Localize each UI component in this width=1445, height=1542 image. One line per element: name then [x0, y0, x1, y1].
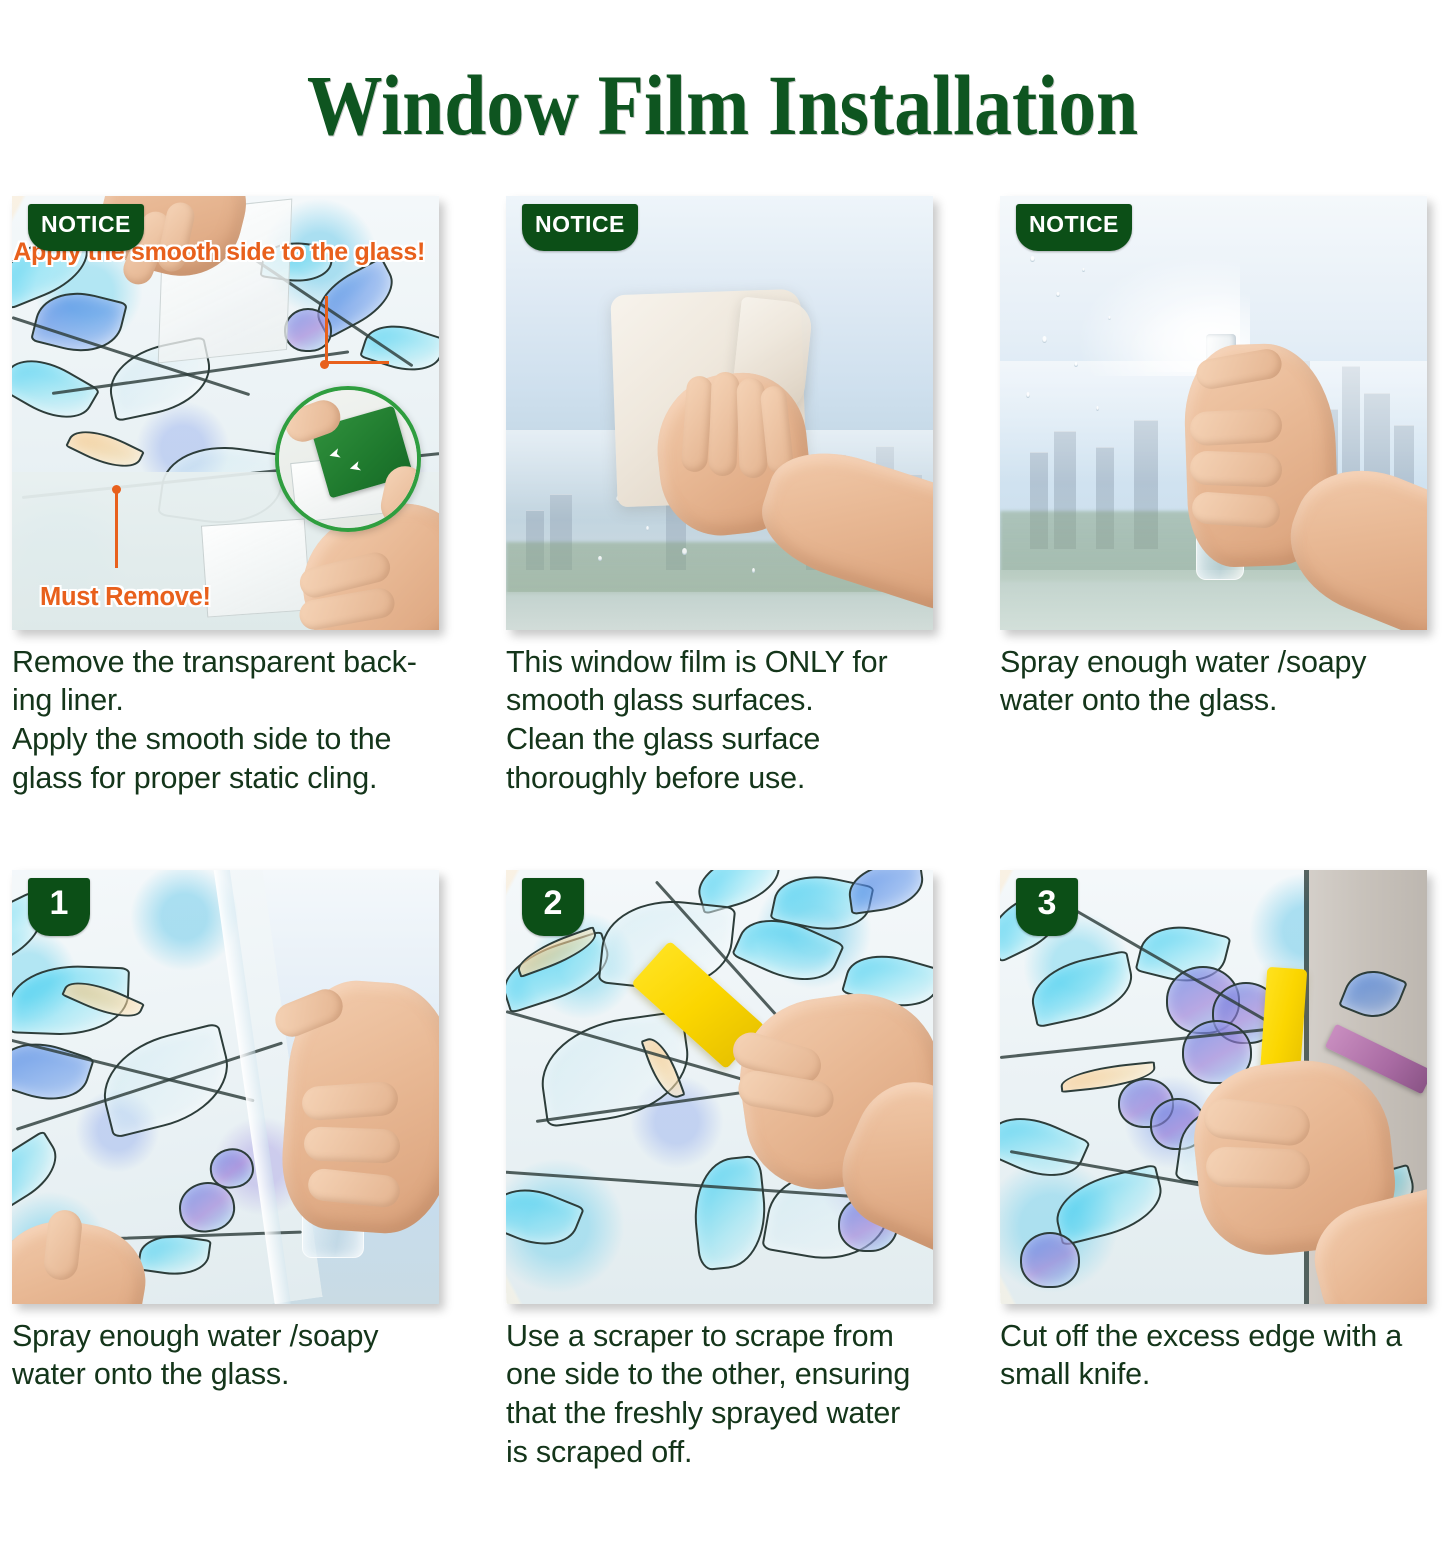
callout-leader-line — [325, 296, 389, 364]
step-cell: NOTICE Spray enough water /soapy water o… — [1000, 196, 1437, 720]
river — [506, 592, 933, 630]
finger — [303, 1126, 400, 1163]
callout-anchor-dot — [112, 485, 121, 494]
notice-badge: NOTICE — [28, 204, 144, 251]
step-caption: Spray enough water /soapy water onto the… — [12, 1317, 442, 1394]
step1-spray-water-film-photo: 1 — [12, 870, 439, 1304]
finger — [301, 1080, 399, 1121]
finger — [1189, 407, 1283, 446]
step2-scrape-with-squeegee-photo: 2 — [506, 870, 933, 1304]
step-cell: ➤ ➤ Apply the smooth side to the glass! … — [12, 196, 449, 798]
finger — [1205, 1146, 1310, 1190]
steps-grid-bottom: 1 Spray enough water /soapy water onto t… — [0, 870, 1445, 1542]
step-cell: 1 Spray enough water /soapy water onto t… — [12, 870, 449, 1394]
step-cell: 2 Use a scraper to scrape from one side … — [506, 870, 943, 1472]
page-title: Window Film Installation — [87, 58, 1359, 148]
finger — [1191, 491, 1281, 529]
notice-badge: NOTICE — [1016, 204, 1132, 251]
arrow-icon: ➤ — [347, 457, 364, 478]
step-number-badge: 1 — [28, 878, 90, 936]
finger — [708, 371, 740, 476]
notice-badge: NOTICE — [522, 204, 638, 251]
numbered-row: 1 Spray enough water /soapy water onto t… — [0, 870, 1445, 1542]
spraying-water-on-glass-photo: NOTICE — [1000, 196, 1427, 630]
step-caption: Use a scraper to scrape from one side to… — [506, 1317, 936, 1472]
step-caption: Cut off the excess edge with a small kni… — [1000, 1317, 1445, 1394]
step3-cut-excess-edge-photo: 3 — [1000, 870, 1427, 1304]
peeled-liner-sheet — [201, 518, 311, 617]
step-cell: NOTICE This window film is ONLY for smoo… — [506, 196, 943, 798]
step-cell: 3 Cut off the excess edge with a small k… — [1000, 870, 1437, 1394]
step-caption: This window film is ONLY for smooth glas… — [506, 643, 936, 798]
step-number-badge: 3 — [1016, 878, 1078, 936]
step-caption: Remove the transparent back- ing liner. … — [12, 643, 442, 798]
magnifier-inset: ➤ ➤ — [275, 386, 421, 532]
callout-leader-line — [115, 490, 118, 568]
cleaning-glass-with-cloth-photo: NOTICE — [506, 196, 933, 630]
finger — [1189, 450, 1282, 487]
notice-row: ➤ ➤ Apply the smooth side to the glass! … — [0, 196, 1445, 868]
callout-anchor-dot — [320, 360, 329, 369]
film-petal — [1020, 1232, 1080, 1288]
must-remove-callout: Must Remove! — [40, 583, 211, 612]
arrow-icon: ➤ — [326, 444, 343, 465]
step-caption: Spray enough water /soapy water onto the… — [1000, 643, 1445, 720]
step-number-badge: 2 — [522, 878, 584, 936]
peeling-backing-liner-photo: ➤ ➤ Apply the smooth side to the glass! … — [12, 196, 439, 630]
